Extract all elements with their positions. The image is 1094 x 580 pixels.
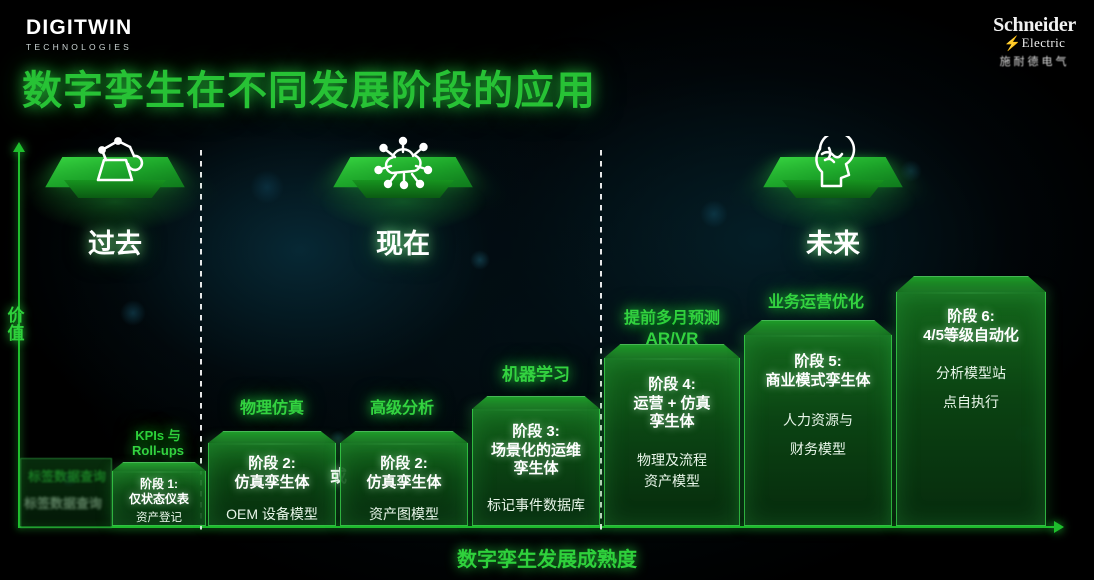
stage-2a-body: 阶段 2: 仿真孪生体 OEM 设备模型 <box>208 443 336 526</box>
stage-1-tag-line2: Roll-ups <box>110 443 206 458</box>
stage-3-cap <box>472 396 600 409</box>
slide-canvas: DIGITWIN TECHNOLOGIES Schneider ⚡Electri… <box>0 0 1094 580</box>
stage-1-title-line2: 仅状态仪表 <box>113 492 205 507</box>
stage-2a-title-line2: 仿真孪生体 <box>209 474 335 493</box>
stage-3-block[interactable]: 阶段 3: 场景化的运维 孪生体 标记事件数据库 <box>472 396 600 526</box>
stage-3-sub: 标记事件数据库 <box>473 495 599 516</box>
divider-present-future <box>600 150 602 530</box>
phase-present-cube <box>328 142 478 216</box>
stage-2b-title-line1: 阶段 2: <box>341 455 467 474</box>
stage-3-body: 阶段 3: 场景化的运维 孪生体 标记事件数据库 <box>472 409 600 526</box>
ai-head-icon <box>805 136 861 190</box>
bokeh-particle <box>120 300 146 326</box>
stage-3-title-line3: 孪生体 <box>473 460 599 479</box>
stage-2b-tag: 高级分析 <box>340 400 464 419</box>
stage-6-block[interactable]: 阶段 6: 4/5等级自动化 分析模型站 点自执行 <box>896 276 1046 526</box>
digitwin-logo: DIGITWIN TECHNOLOGIES <box>26 16 132 52</box>
stage-6-title: 阶段 6: 4/5等级自动化 <box>897 308 1045 345</box>
stage-4-body: 阶段 4: 运营 + 仿真 孪生体 物理及流程 资产模型 <box>604 358 740 526</box>
phase-future: 未来 <box>748 142 918 261</box>
stage-1-sub-line1: 资产登记 <box>113 510 205 527</box>
stage-3-tag-line1: 机器学习 <box>472 365 600 385</box>
stage-1-title-line1: 阶段 1: <box>113 477 205 492</box>
stage-1-body: 阶段 1: 仅状态仪表 资产登记 <box>112 471 206 526</box>
stage-4-title-line1: 阶段 4: <box>605 376 739 395</box>
stage-1-block[interactable]: 阶段 1: 仅状态仪表 资产登记 <box>112 462 206 526</box>
stage-5-cap <box>744 320 892 335</box>
stage-6-sub-line2: 点自执行 <box>897 392 1045 413</box>
stage-6-cap <box>896 276 1046 292</box>
stage-3-sub-line1: 标记事件数据库 <box>473 495 599 516</box>
stage-6-sub-line1: 分析模型站 <box>897 363 1045 384</box>
stage-3-title-line1: 阶段 3: <box>473 423 599 442</box>
stage-4-title-line2: 运营 + 仿真 <box>605 395 739 414</box>
bokeh-particle <box>250 170 284 204</box>
value-axis-arrow-icon <box>13 142 25 152</box>
stage-2a-block[interactable]: 阶段 2: 仿真孪生体 OEM 设备模型 <box>208 431 336 526</box>
stage-3-title: 阶段 3: 场景化的运维 孪生体 <box>473 423 599 479</box>
stage-4-sub-line2: 资产模型 <box>605 471 739 492</box>
stage-1-sub: 资产登记 <box>113 510 205 527</box>
stage-5-title-line2: 商业模式孪生体 <box>745 372 891 391</box>
ghost-block <box>20 458 112 528</box>
stage-5-block[interactable]: 阶段 5: 商业模式孪生体 人力资源与 财务模型 <box>744 320 892 526</box>
stage-2a-cap <box>208 431 336 443</box>
stage-2b-cap <box>340 431 468 443</box>
stage-4-title-line3: 孪生体 <box>605 413 739 432</box>
stage-6-title-line2: 4/5等级自动化 <box>897 327 1045 346</box>
stage-5-title: 阶段 5: 商业模式孪生体 <box>745 353 891 390</box>
value-axis-label-char1: 价 <box>0 307 36 325</box>
phase-future-cube <box>758 142 908 216</box>
stage-2a-sub-line1: OEM 设备模型 <box>209 504 335 525</box>
stage-1-tag-line1: KPIs 与 <box>110 428 206 443</box>
maturity-axis-label: 数字孪生发展成熟度 <box>0 543 1094 572</box>
robot-arm-icon <box>84 136 146 188</box>
value-axis-label-char2: 值 <box>0 325 36 343</box>
stage-2b-title: 阶段 2: 仿真孪生体 <box>341 455 467 492</box>
stage-4-sub: 物理及流程 资产模型 <box>605 450 739 492</box>
schneider-logo-sub-text: Electric <box>1022 35 1066 50</box>
schneider-electric-logo: Schneider ⚡Electric 施耐德电气 <box>993 14 1076 69</box>
cloud-network-icon <box>371 136 435 190</box>
stage-4-title: 阶段 4: 运营 + 仿真 孪生体 <box>605 376 739 432</box>
phase-present: 现在 <box>318 142 488 261</box>
stage-4-tag-line1: 提前多月预测 <box>604 310 740 329</box>
stage-3-tag: 机器学习 <box>472 365 600 385</box>
phase-past: 过去 <box>30 142 200 261</box>
stage-2b-block[interactable]: 阶段 2: 仿真孪生体 资产图模型 <box>340 431 468 526</box>
value-axis-label: 价 值 <box>0 307 36 343</box>
maturity-axis-arrow-icon <box>1054 521 1064 533</box>
schneider-logo-name: Schneider <box>993 14 1076 37</box>
schneider-logo-sub: ⚡Electric <box>993 35 1076 52</box>
stage-2b-sub: 资产图模型 <box>341 504 467 525</box>
bokeh-particle <box>700 200 728 228</box>
stage-1-cap <box>112 462 206 471</box>
stage-6-title-line1: 阶段 6: <box>897 308 1045 327</box>
stage-2b-title-line2: 仿真孪生体 <box>341 474 467 493</box>
stage-5-tag: 业务运营优化 <box>742 294 890 313</box>
stage-4-sub-line1: 物理及流程 <box>605 450 739 471</box>
stage-5-sub-line1: 人力资源与 <box>745 410 891 431</box>
schneider-bolt-icon: ⚡ <box>1004 36 1022 53</box>
phase-past-cube <box>40 142 190 216</box>
stage-5-sub-line2: 财务模型 <box>745 439 891 460</box>
stage-5-tag-line1: 业务运营优化 <box>742 294 890 313</box>
stage-1-title: 阶段 1: 仅状态仪表 <box>113 477 205 507</box>
stage-4-block[interactable]: 阶段 4: 运营 + 仿真 孪生体 物理及流程 资产模型 <box>604 344 740 526</box>
digitwin-logo-name: DIGITWIN <box>26 16 132 40</box>
page-title: 数字孪生在不同发展阶段的应用 <box>22 58 596 116</box>
stage-2a-tag-line1: 物理仿真 <box>210 400 334 419</box>
stage-2b-sub-line1: 资产图模型 <box>341 504 467 525</box>
stage-4-cap <box>604 344 740 358</box>
stage-6-body: 阶段 6: 4/5等级自动化 分析模型站 点自执行 <box>896 292 1046 526</box>
stage-6-sub: 分析模型站 点自执行 <box>897 363 1045 413</box>
stage-2a-title-line1: 阶段 2: <box>209 455 335 474</box>
stage-2a-sub: OEM 设备模型 <box>209 504 335 525</box>
stage-5-body: 阶段 5: 商业模式孪生体 人力资源与 财务模型 <box>744 335 892 526</box>
stage-5-title-line1: 阶段 5: <box>745 353 891 372</box>
stage-2a-tag: 物理仿真 <box>210 400 334 419</box>
stage-2a-title: 阶段 2: 仿真孪生体 <box>209 455 335 492</box>
stage-2b-tag-line1: 高级分析 <box>340 400 464 419</box>
stage-2b-body: 阶段 2: 仿真孪生体 资产图模型 <box>340 443 468 526</box>
schneider-logo-cn: 施耐德电气 <box>993 53 1076 69</box>
digitwin-logo-sub: TECHNOLOGIES <box>26 42 132 52</box>
stage-3-title-line2: 场景化的运维 <box>473 442 599 461</box>
stage-5-sub: 人力资源与 财务模型 <box>745 410 891 460</box>
stage-1-tag: KPIs 与 Roll-ups <box>110 428 206 459</box>
